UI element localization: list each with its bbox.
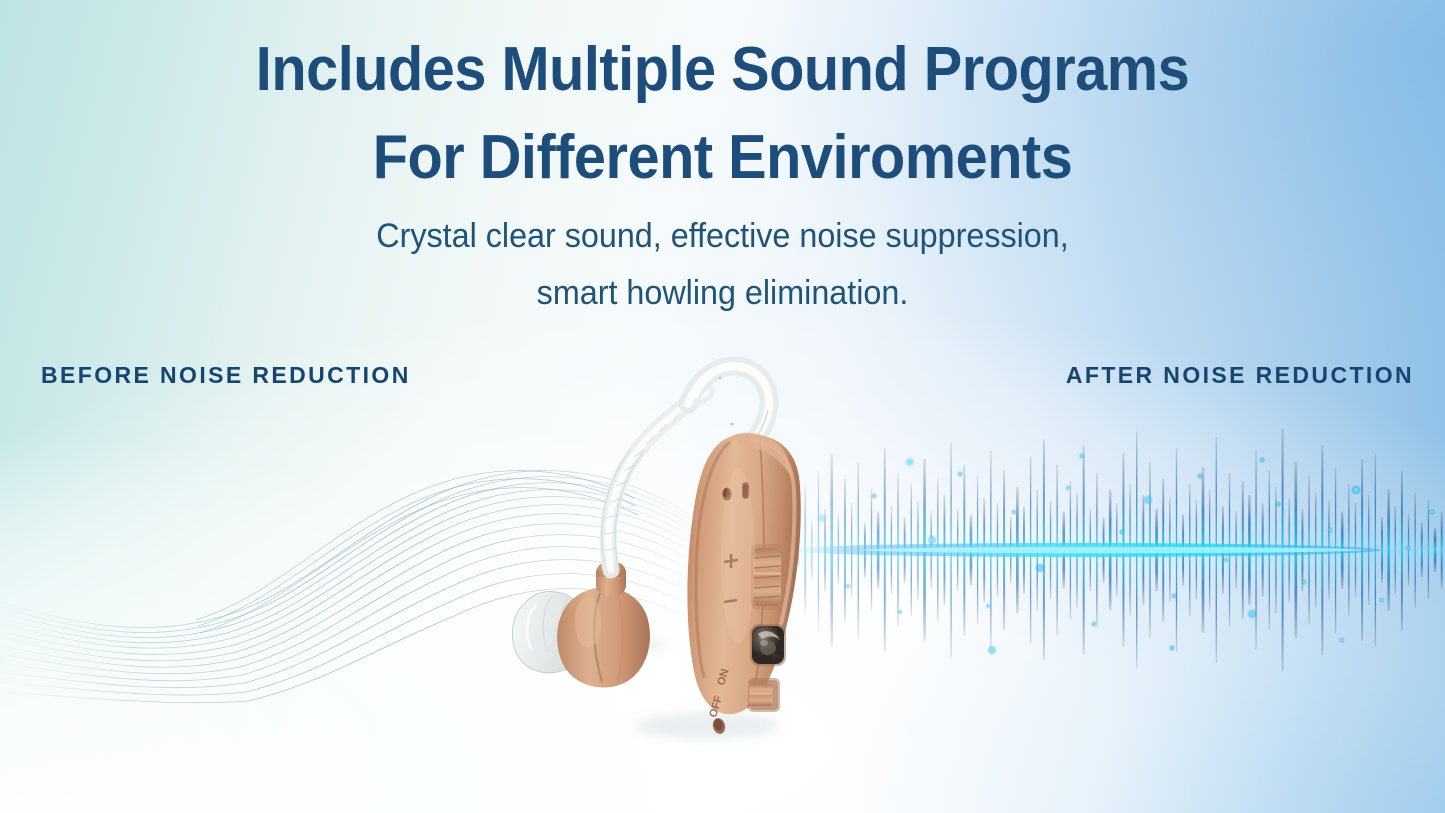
earmold-body — [557, 562, 650, 688]
subtitle-line-1: Crystal clear sound, effective noise sup… — [36, 214, 1409, 259]
page-title-line-1: Includes Multiple Sound Programs — [51, 26, 1395, 114]
bte-shell-body: ON OFF — [687, 433, 800, 735]
label-after-noise-reduction: AFTER NOISE REDUCTION — [1066, 362, 1414, 389]
label-before-noise-reduction: BEFORE NOISE REDUCTION — [41, 362, 411, 389]
clean-waveform-after — [782, 400, 1445, 700]
program-button[interactable] — [750, 624, 786, 666]
hearing-aid-device: ON OFF — [492, 326, 852, 746]
page-title-line-2: For Different Enviroments — [51, 114, 1395, 202]
volume-wheel[interactable] — [751, 544, 783, 610]
subtitle-line-2: smart howling elimination. — [36, 271, 1409, 316]
power-switch[interactable] — [748, 678, 780, 712]
headline-block: Includes Multiple Sound Programs For Dif… — [0, 26, 1445, 317]
